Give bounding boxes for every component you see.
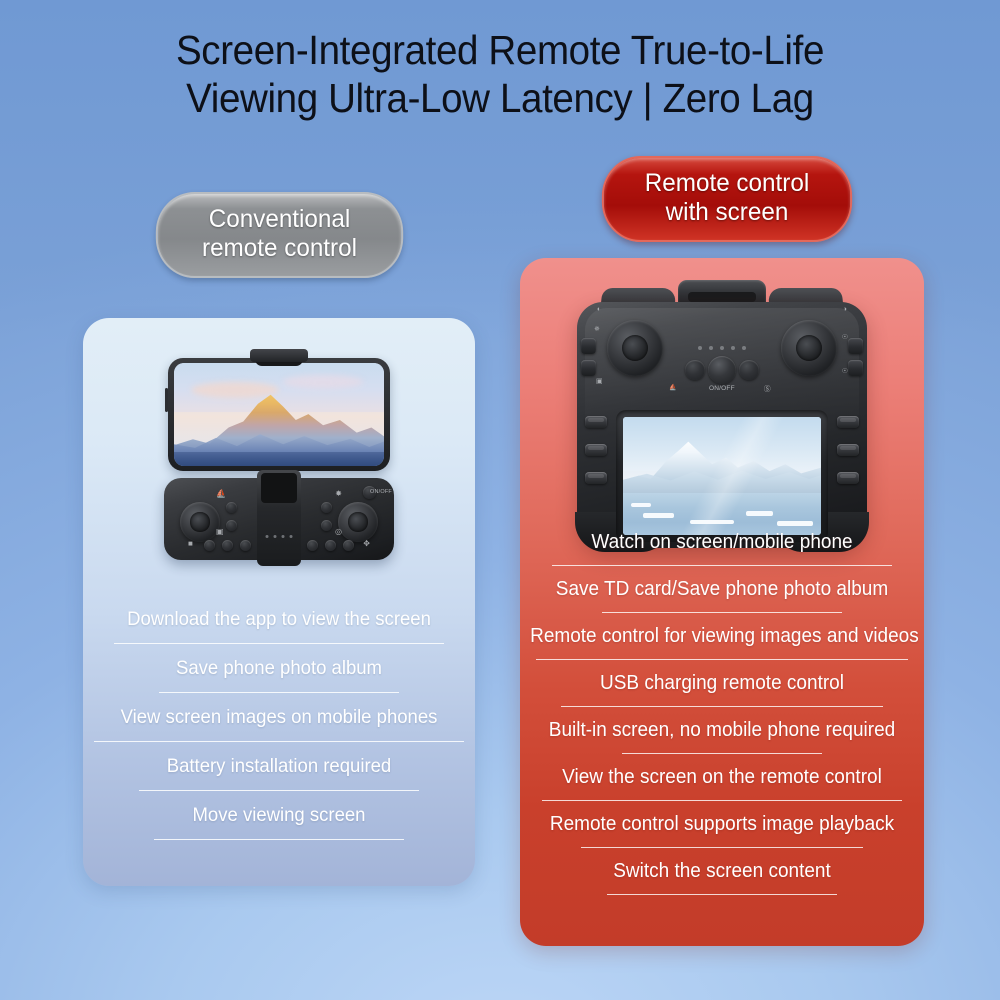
card-conventional: ON/OFF ⛵ ▣ ■ ✸ ◎ ✥ Download the app to v… bbox=[83, 318, 475, 886]
phone-clamp bbox=[250, 349, 308, 362]
led-dot bbox=[720, 346, 724, 350]
feature-text: Built-in screen, no mobile phone require… bbox=[530, 719, 914, 742]
controller-hinge bbox=[261, 473, 297, 503]
feature-item: Download the app to view the screen bbox=[83, 608, 475, 644]
photo-video-icon: ■ bbox=[188, 540, 193, 548]
feature-text: Save phone photo album bbox=[93, 657, 465, 680]
phone-screen bbox=[174, 363, 384, 466]
right-side-button-2[interactable] bbox=[848, 360, 863, 376]
camera-icon: ▣ bbox=[216, 528, 224, 536]
display-left-button-2[interactable] bbox=[585, 444, 607, 456]
led-dot bbox=[266, 535, 269, 538]
left-button-5[interactable] bbox=[240, 540, 251, 551]
feature-item: Watch on screen/mobile phone bbox=[520, 531, 924, 566]
smartphone bbox=[168, 358, 390, 471]
badge-screen-line-2: with screen bbox=[633, 198, 821, 227]
stop-icon: Ⓢ bbox=[764, 384, 771, 394]
title-line-1: Screen-Integrated Remote True-to-Life bbox=[30, 26, 970, 74]
conventional-controller: ON/OFF ⛵ ▣ ■ ✸ ◎ ✥ bbox=[164, 478, 394, 560]
right-side-button-1[interactable] bbox=[848, 338, 863, 354]
power-button[interactable] bbox=[708, 356, 736, 384]
feature-text: Remote control for viewing images and vi… bbox=[530, 625, 914, 648]
display-left-button-3[interactable] bbox=[585, 472, 607, 484]
controller-body: ⛵ ON/OFF Ⓢ ◐ ◑ ✵ ▣ ☉ ☉ bbox=[577, 302, 867, 548]
right-button-2[interactable] bbox=[321, 520, 332, 531]
feature-text: Save TD card/Save phone photo album bbox=[530, 578, 914, 601]
feature-item: Save phone photo album bbox=[83, 657, 475, 693]
phone-screen-cloud bbox=[283, 375, 363, 388]
onoff-label: ON/OFF bbox=[709, 385, 735, 392]
left-joystick[interactable] bbox=[607, 320, 663, 376]
gimbal-icon: ◐ bbox=[597, 306, 601, 314]
phone-device bbox=[168, 358, 390, 471]
phone-screen-foreground bbox=[174, 452, 384, 466]
led-dot bbox=[290, 535, 293, 538]
led-dot bbox=[274, 535, 277, 538]
feature-divider bbox=[581, 847, 863, 848]
feature-text: View screen images on mobile phones bbox=[93, 706, 465, 729]
right-button-1[interactable] bbox=[321, 502, 332, 513]
led-indicators bbox=[266, 535, 293, 538]
feature-item: Built-in screen, no mobile phone require… bbox=[520, 719, 924, 754]
return-home-label: ⛵ bbox=[669, 384, 677, 391]
speed-icon: ◎ bbox=[335, 528, 342, 536]
led-dot bbox=[731, 346, 735, 350]
badge-conventional-line-1: Conventional bbox=[187, 205, 372, 234]
zoom-in-icon: ☉ bbox=[842, 334, 848, 342]
built-in-display-bezel bbox=[616, 410, 828, 542]
feature-divider bbox=[552, 565, 892, 566]
badge-conventional-remote: Conventional remote control bbox=[156, 192, 403, 278]
function-button-right[interactable] bbox=[739, 360, 759, 380]
takeoff-icon: ⛵ bbox=[216, 490, 226, 498]
left-button-2[interactable] bbox=[226, 520, 237, 531]
feature-text: USB charging remote control bbox=[530, 672, 914, 695]
zoom-out-icon: ☉ bbox=[842, 368, 848, 376]
led-dot bbox=[742, 346, 746, 350]
left-button-4[interactable] bbox=[222, 540, 233, 551]
light-icon: ✵ bbox=[594, 326, 600, 334]
feature-item: Remote control for viewing images and vi… bbox=[520, 625, 924, 660]
feature-text: Download the app to view the screen bbox=[93, 608, 465, 631]
feature-item: Switch the screen content bbox=[520, 860, 924, 895]
feature-divider bbox=[159, 692, 399, 693]
display-right-button-3[interactable] bbox=[837, 472, 859, 484]
right-joystick[interactable] bbox=[781, 320, 837, 376]
feature-item: View screen images on mobile phones bbox=[83, 706, 475, 742]
feature-divider bbox=[536, 659, 908, 660]
feature-text: View the screen on the remote control bbox=[530, 766, 914, 789]
right-button-5[interactable] bbox=[307, 540, 318, 551]
feature-item: Save TD card/Save phone photo album bbox=[520, 578, 924, 613]
left-joystick[interactable] bbox=[180, 502, 220, 542]
led-indicators bbox=[698, 346, 746, 350]
badge-remote-with-screen: Remote control with screen bbox=[602, 156, 852, 242]
photo-video-icon: ▣ bbox=[596, 378, 603, 386]
badge-screen-line-1: Remote control bbox=[633, 169, 821, 198]
display-left-button-1[interactable] bbox=[585, 416, 607, 428]
display-glare bbox=[623, 417, 821, 535]
feature-divider bbox=[542, 800, 902, 801]
feature-divider bbox=[154, 839, 404, 840]
led-dot bbox=[282, 535, 285, 538]
feature-item: USB charging remote control bbox=[520, 672, 924, 707]
feature-divider bbox=[602, 612, 842, 613]
feature-item: Remote control supports image playback bbox=[520, 813, 924, 848]
display-right-button-1[interactable] bbox=[837, 416, 859, 428]
left-button-3[interactable] bbox=[204, 540, 215, 551]
right-button-3[interactable] bbox=[343, 540, 354, 551]
onoff-label: ON/OFF bbox=[370, 489, 392, 495]
left-button-1[interactable] bbox=[226, 502, 237, 513]
feature-divider bbox=[622, 753, 822, 754]
feature-item: Move viewing screen bbox=[83, 804, 475, 840]
phone-screen-cloud bbox=[191, 382, 279, 398]
feature-text: Move viewing screen bbox=[93, 804, 465, 827]
left-side-button-1[interactable] bbox=[581, 338, 596, 354]
screen-remote-controller: ⛵ ON/OFF Ⓢ ◐ ◑ ✵ ▣ ☉ ☉ bbox=[577, 280, 867, 548]
feature-list-conventional: Download the app to view the screen Save… bbox=[83, 608, 475, 853]
feature-list-screen-remote: Watch on screen/mobile phone Save TD car… bbox=[520, 531, 924, 907]
feature-divider bbox=[607, 894, 837, 895]
feature-item: View the screen on the remote control bbox=[520, 766, 924, 801]
speed-mode-icon: ◑ bbox=[843, 306, 847, 314]
feature-divider bbox=[561, 706, 883, 707]
feature-divider bbox=[94, 741, 464, 742]
phone-side-button bbox=[165, 388, 168, 412]
led-dot bbox=[709, 346, 713, 350]
feature-item: Battery installation required bbox=[83, 755, 475, 791]
feature-text: Watch on screen/mobile phone bbox=[530, 531, 914, 554]
page-title: Screen-Integrated Remote True-to-Life Vi… bbox=[30, 26, 970, 122]
feature-divider bbox=[139, 790, 419, 791]
feature-text: Switch the screen content bbox=[530, 860, 914, 883]
dpad-icon: ✥ bbox=[363, 540, 370, 548]
right-joystick[interactable] bbox=[338, 502, 378, 542]
right-button-4[interactable] bbox=[325, 540, 336, 551]
gps-icon: ✸ bbox=[335, 490, 342, 498]
feature-text: Battery installation required bbox=[93, 755, 465, 778]
built-in-display[interactable] bbox=[623, 417, 821, 535]
badge-conventional-line-2: remote control bbox=[187, 234, 372, 263]
card-screen-remote: ⛵ ON/OFF Ⓢ ◐ ◑ ✵ ▣ ☉ ☉ bbox=[520, 258, 924, 946]
feature-divider bbox=[114, 643, 444, 644]
feature-text: Remote control supports image playback bbox=[530, 813, 914, 836]
display-right-button-2[interactable] bbox=[837, 444, 859, 456]
led-dot bbox=[698, 346, 702, 350]
title-line-2: Viewing Ultra-Low Latency | Zero Lag bbox=[30, 74, 970, 122]
left-side-button-2[interactable] bbox=[581, 360, 596, 376]
function-button-left[interactable] bbox=[685, 360, 705, 380]
